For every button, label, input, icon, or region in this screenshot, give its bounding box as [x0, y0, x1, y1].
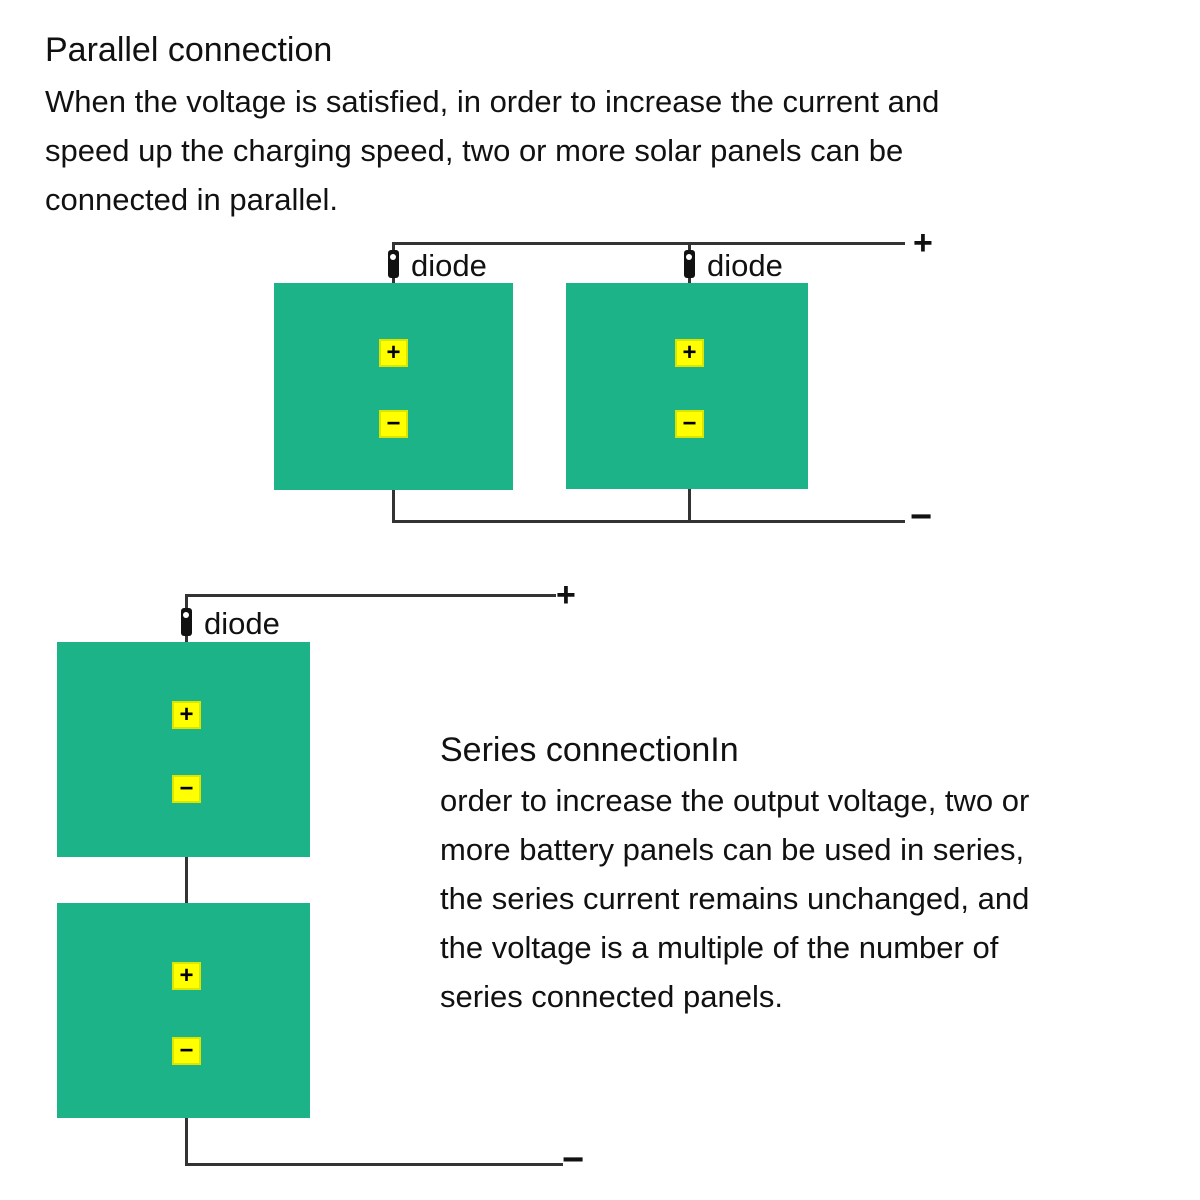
series-solar-panel-2 [57, 903, 310, 1118]
parallel-negative-bus [392, 520, 905, 523]
parallel-description-line-2: speed up the charging speed, two or more… [45, 126, 1165, 175]
parallel-panel-1-minus-terminal: − [379, 410, 408, 438]
series-positive-terminal-label: + [556, 578, 576, 612]
series-panel-1-plus-terminal: + [172, 701, 201, 729]
parallel-solar-panel-2 [566, 283, 808, 489]
parallel-solar-panel-1 [274, 283, 513, 490]
parallel-negative-terminal-label: − [910, 500, 932, 534]
series-negative-bus [185, 1163, 563, 1166]
parallel-heading: Parallel connection [45, 30, 332, 70]
series-diode-icon [181, 608, 192, 636]
series-panel-2-minus-terminal: − [172, 1037, 201, 1065]
parallel-description-line-1: When the voltage is satisfied, in order … [45, 77, 1165, 126]
parallel-panel-1-diode-icon [388, 250, 399, 278]
parallel-panel-2-minus-terminal: − [675, 410, 704, 438]
parallel-panel-2-plus-terminal: + [675, 339, 704, 367]
series-positive-bus [185, 594, 556, 597]
parallel-description: When the voltage is satisfied, in order … [45, 77, 1165, 224]
series-description-line-1: order to increase the output voltage, tw… [440, 776, 1180, 825]
diagram-canvas: Parallel connection When the voltage is … [0, 0, 1200, 1200]
series-description: order to increase the output voltage, tw… [440, 776, 1180, 1021]
series-description-line-4: the voltage is a multiple of the number … [440, 923, 1180, 972]
parallel-positive-bus [392, 242, 905, 245]
parallel-panel-1-diode-label: diode [411, 250, 487, 281]
series-description-line-3: the series current remains unchanged, an… [440, 874, 1180, 923]
series-panel-1-minus-terminal: − [172, 775, 201, 803]
parallel-panel-2-diode-icon [684, 250, 695, 278]
parallel-positive-terminal-label: + [913, 226, 933, 260]
series-panel-2-plus-terminal: + [172, 962, 201, 990]
parallel-panel-2-diode-label: diode [707, 250, 783, 281]
series-solar-panel-1 [57, 642, 310, 857]
series-heading: Series connectionIn [440, 730, 739, 770]
parallel-description-line-3: connected in parallel. [45, 175, 1165, 224]
series-description-line-2: more battery panels can be used in serie… [440, 825, 1180, 874]
parallel-panel-1-plus-terminal: + [379, 339, 408, 367]
series-negative-terminal-label: − [562, 1143, 584, 1177]
series-diode-label: diode [204, 608, 280, 639]
series-description-line-5: series connected panels. [440, 972, 1180, 1021]
